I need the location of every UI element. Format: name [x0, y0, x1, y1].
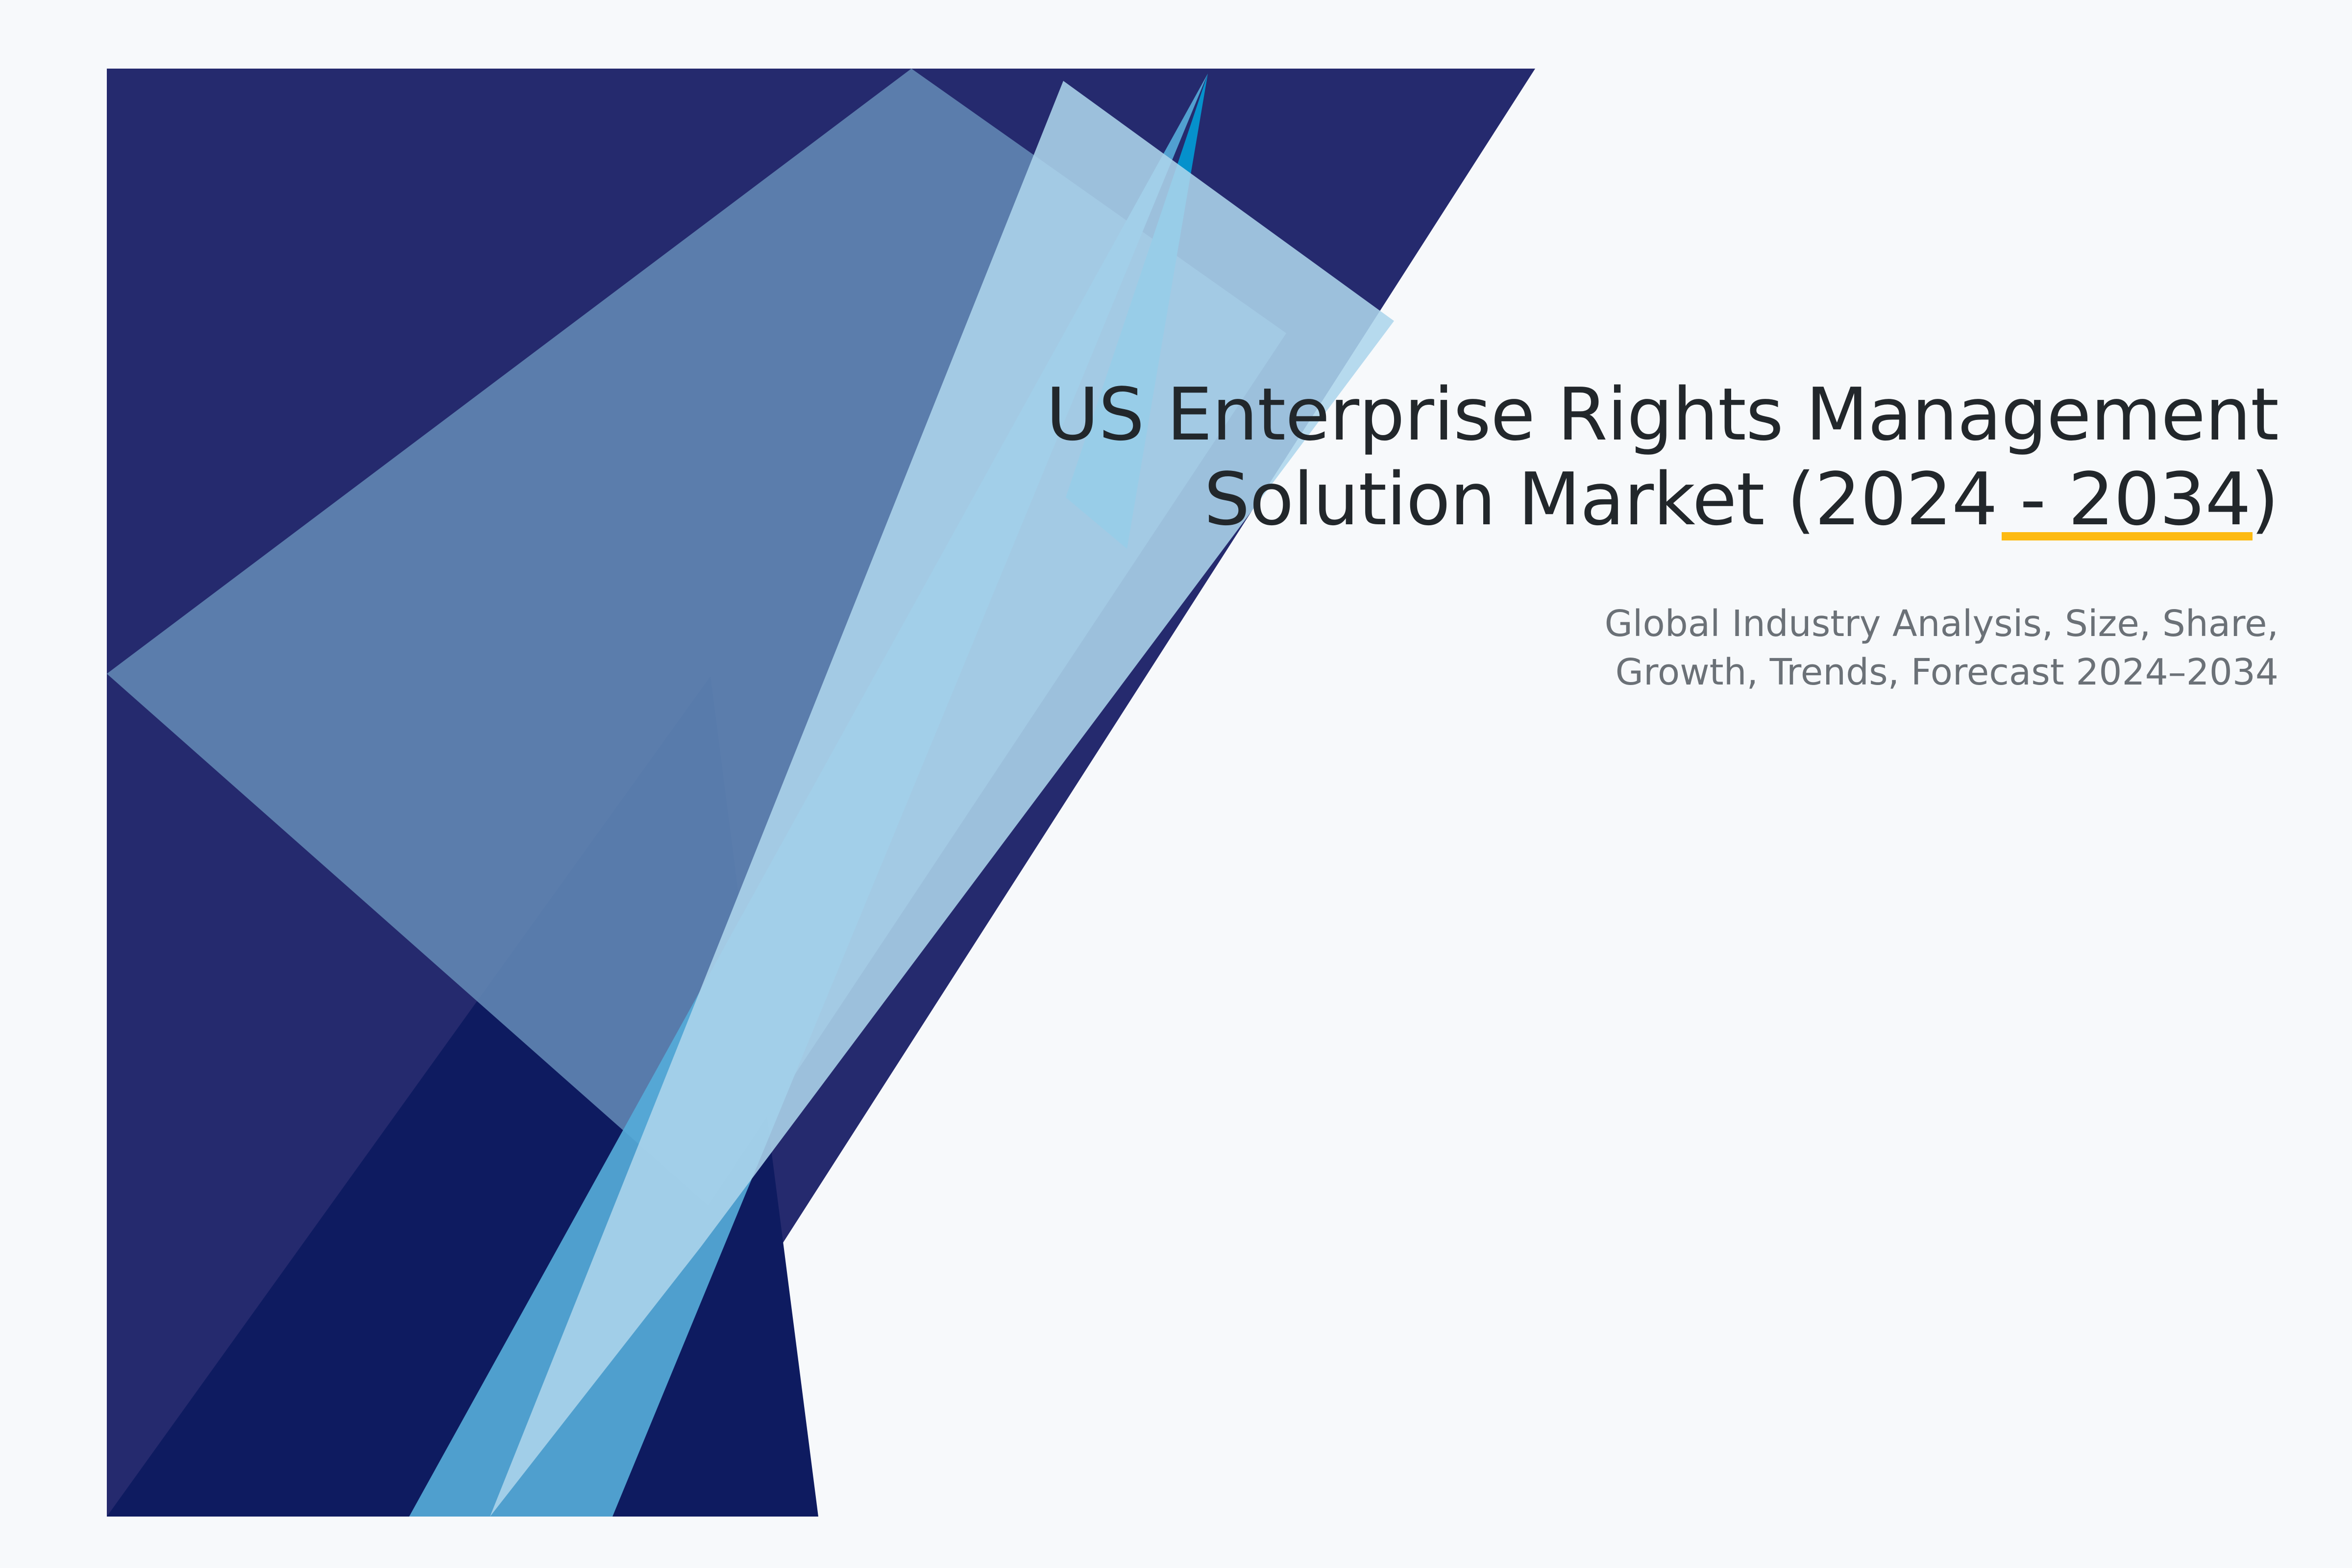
- report-cover-page: US Enterprise Rights Management Solution…: [0, 0, 2352, 1568]
- page-subtitle: Global Industry Analysis, Size, Share, G…: [857, 542, 2278, 696]
- abstract-polygon-artwork: [0, 0, 2352, 1568]
- page-title-line-two: Solution Market (2024 - 2034): [857, 457, 2278, 542]
- page-title: US Enterprise Rights Management: [857, 372, 2278, 457]
- title-underline-accent: [2002, 532, 2253, 540]
